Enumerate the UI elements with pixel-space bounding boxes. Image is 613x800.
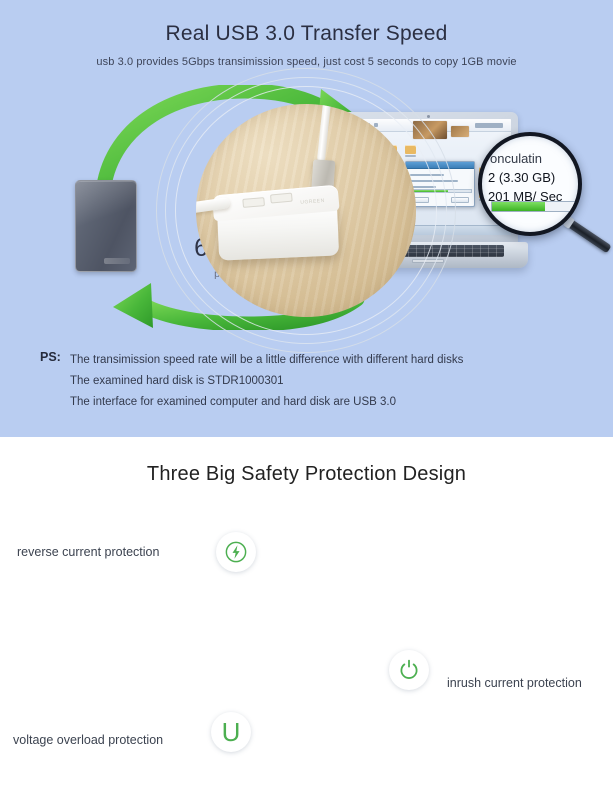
power-strip-photo: UGREEN (196, 104, 416, 317)
safety-section-title: Three Big Safety Protection Design (0, 463, 613, 486)
label-reverse-current-protection: reverse current protection (17, 545, 159, 559)
label-inrush-current-protection: inrush current protection (447, 676, 582, 690)
toolbar-field (475, 123, 503, 128)
ps-notes: PS: The transimission speed rate will be… (40, 350, 463, 413)
magnified-size-text: 2 (3.30 GB) (488, 169, 578, 188)
badge-reverse-current-protection (216, 532, 256, 572)
usb-section-title: Real USB 3.0 Transfer Speed (0, 22, 613, 46)
hdd-sheen (76, 181, 136, 271)
badge-inrush-current-protection (389, 650, 429, 690)
badge-voltage-overload-protection: U (211, 712, 251, 752)
ps-note-line: The interface for examined computer and … (70, 392, 463, 413)
letter-u-icon: U (222, 719, 241, 745)
magnifier-content: onculatin 2 (3.30 GB) 201 MB/ Sec (482, 136, 578, 232)
label-voltage-overload-protection: voltage overload protection (13, 733, 163, 747)
ps-note-line: The examined hard disk is STDR1000301 (70, 371, 463, 392)
socket (270, 193, 293, 204)
external-hard-drive (75, 180, 137, 272)
usb-section-subtitle: usb 3.0 provides 5Gbps transimission spe… (0, 56, 613, 68)
lightning-bolt-icon (225, 541, 247, 563)
power-strip-body: UGREEN (217, 201, 339, 260)
magnified-title-text: onculatin (490, 150, 578, 169)
magnified-progress-bar (491, 201, 575, 212)
brand-mark: UGREEN (300, 198, 325, 206)
ps-label: PS: (40, 350, 61, 364)
socket (242, 197, 265, 208)
decorative-rings: UGREEN (156, 68, 456, 353)
power-icon (397, 658, 421, 682)
magnifier-lens: onculatin 2 (3.30 GB) 201 MB/ Sec (478, 132, 582, 236)
ps-note-line: The transimission speed rate will be a l… (70, 350, 463, 371)
magnifier: onculatin 2 (3.30 GB) 201 MB/ Sec (478, 132, 613, 244)
